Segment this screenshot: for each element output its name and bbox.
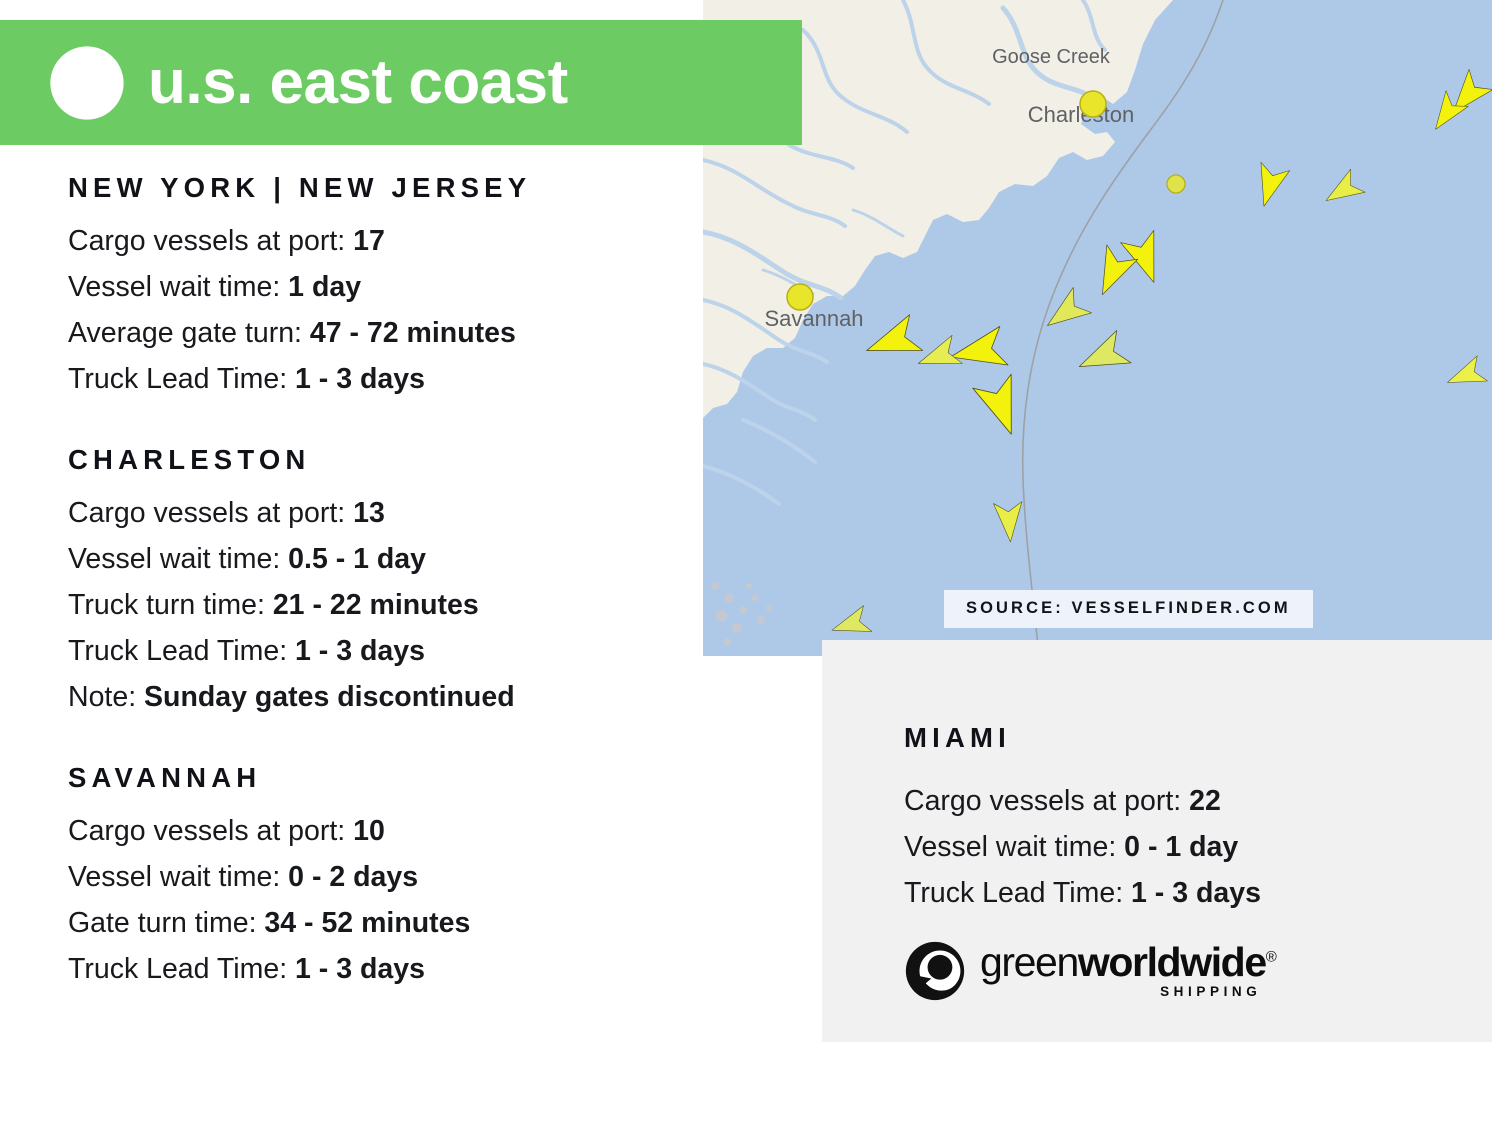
port-stat-row: Truck Lead Time: 1 - 3 days [68, 628, 688, 674]
source-text: SOURCE: VESSELFINDER.COM [966, 599, 1291, 617]
stat-value: 1 - 3 days [295, 635, 425, 667]
stat-value: 1 - 3 days [295, 953, 425, 985]
stat-label: Cargo vessels at port: [68, 225, 353, 257]
port-stat-row: Vessel wait time: 0 - 2 days [68, 854, 688, 900]
page-title: u.s. east coast [148, 52, 568, 114]
registered-trademark-icon: ® [1266, 948, 1276, 965]
miami-stats-list: Cargo vessels at port: 22 Vessel wait ti… [904, 778, 1261, 916]
brand-wordmark: greenworldwide® [980, 943, 1275, 982]
coastal-map[interactable]: Goose Creek Charleston Savannah [703, 0, 1492, 656]
map-panel[interactable]: Goose Creek Charleston Savannah [703, 0, 1492, 656]
brand-word-bold: worldwide [1078, 939, 1266, 985]
port-block-nynj: NEW YORK | NEW JERSEY Cargo vessels at p… [68, 172, 688, 402]
stat-label: Truck Lead Time: [68, 363, 295, 395]
stat-label: Average gate turn: [68, 317, 310, 349]
port-title: NEW YORK | NEW JERSEY [68, 172, 688, 204]
brand-lockup: greenworldwide® SHIPPING [904, 940, 1275, 1002]
brand-word-light: green [980, 939, 1078, 985]
stat-label: Vessel wait time: [68, 271, 288, 303]
stat-value: 22 [1189, 785, 1221, 817]
port-title: CHARLESTON [68, 444, 688, 476]
stat-label: Note: [68, 681, 144, 713]
stat-label: Cargo vessels at port: [68, 815, 353, 847]
header-banner: u.s. east coast [0, 20, 802, 145]
stat-value: 0 - 2 days [288, 861, 418, 893]
stat-value: 21 - 22 minutes [273, 589, 479, 621]
stat-label: Truck Lead Time: [68, 953, 295, 985]
stat-label: Cargo vessels at port: [904, 785, 1189, 817]
offshore-marker[interactable] [1167, 175, 1185, 193]
port-title: SAVANNAH [68, 762, 688, 794]
brand-subtitle: SHIPPING [980, 984, 1275, 999]
stat-label: Cargo vessels at port: [68, 497, 353, 529]
stat-label: Vessel wait time: [68, 543, 288, 575]
stat-value: 34 - 52 minutes [264, 907, 470, 939]
port-stat-row: Gate turn time: 34 - 52 minutes [68, 900, 688, 946]
port-stat-row: Truck Lead Time: 1 - 3 days [68, 356, 688, 402]
stat-value: 1 - 3 days [295, 363, 425, 395]
port-stat-row: Vessel wait time: 1 day [68, 264, 688, 310]
port-stat-row: Cargo vessels at port: 10 [68, 808, 688, 854]
port-block-charleston: CHARLESTON Cargo vessels at port: 13 Ves… [68, 444, 688, 720]
stat-value: 1 day [288, 271, 361, 303]
source-attribution: SOURCE: VESSELFINDER.COM [944, 590, 1313, 628]
miami-panel: MIAMI Cargo vessels at port: 22 Vessel w… [822, 640, 1492, 1042]
port-stat-row: Truck Lead Time: 1 - 3 days [904, 870, 1261, 916]
charleston-port-marker[interactable] [1080, 91, 1106, 117]
green-worldwide-globe-arrow-icon [48, 44, 126, 122]
stat-value: 47 - 72 minutes [310, 317, 516, 349]
ports-list: NEW YORK | NEW JERSEY Cargo vessels at p… [68, 172, 688, 992]
stat-value: 1 - 3 days [1131, 877, 1261, 909]
port-stat-row: Cargo vessels at port: 13 [68, 490, 688, 536]
port-stat-row: Cargo vessels at port: 17 [68, 218, 688, 264]
savannah-port-marker[interactable] [787, 284, 813, 310]
port-block-savannah: SAVANNAH Cargo vessels at port: 10 Vesse… [68, 762, 688, 992]
stat-label: Vessel wait time: [904, 831, 1124, 863]
green-worldwide-globe-arrow-icon [904, 940, 966, 1002]
port-stat-row: Vessel wait time: 0 - 1 day [904, 824, 1261, 870]
stat-label: Truck Lead Time: [68, 635, 295, 667]
port-stat-row: Vessel wait time: 0.5 - 1 day [68, 536, 688, 582]
port-stat-row: Note: Sunday gates discontinued [68, 674, 688, 720]
brand-wordmark-group: greenworldwide® SHIPPING [980, 943, 1275, 1000]
stat-label: Vessel wait time: [68, 861, 288, 893]
stat-value: 0 - 1 day [1124, 831, 1238, 863]
stat-value: 13 [353, 497, 385, 529]
stat-label: Truck Lead Time: [904, 877, 1131, 909]
map-label-savannah: Savannah [764, 306, 863, 331]
port-stat-row: Cargo vessels at port: 22 [904, 778, 1261, 824]
stat-label: Gate turn time: [68, 907, 264, 939]
map-label-goose-creek: Goose Creek [992, 46, 1111, 68]
stat-value: 17 [353, 225, 385, 257]
port-title: MIAMI [904, 722, 1011, 754]
port-stat-row: Average gate turn: 47 - 72 minutes [68, 310, 688, 356]
stat-label: Truck turn time: [68, 589, 273, 621]
stat-value: 10 [353, 815, 385, 847]
stat-value: Sunday gates discontinued [144, 681, 515, 713]
stat-value: 0.5 - 1 day [288, 543, 426, 575]
port-stat-row: Truck turn time: 21 - 22 minutes [68, 582, 688, 628]
port-stat-row: Truck Lead Time: 1 - 3 days [68, 946, 688, 992]
